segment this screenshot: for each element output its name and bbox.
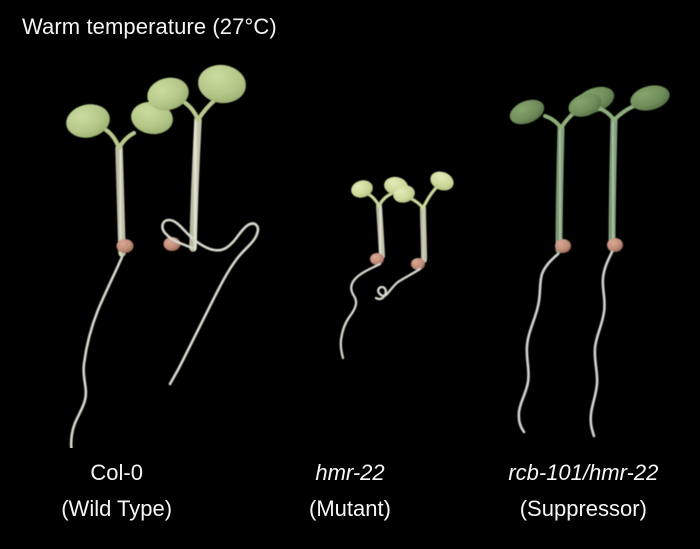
hypocotyl: [193, 120, 198, 248]
figure-panel: Warm temperature (27°C): [0, 0, 700, 549]
label-col-hmr22: hmr-22 (Mutant): [233, 452, 466, 549]
label-col-col0: Col-0 (Wild Type): [0, 452, 233, 549]
seed-coat: [370, 253, 384, 265]
figure-title: Warm temperature (27°C): [22, 14, 277, 40]
seedlings-svg: [0, 48, 700, 448]
description-label-hmr22: (Mutant): [309, 494, 391, 524]
seed-coat: [555, 239, 571, 253]
genotype-label-hmr22: hmr-22: [315, 458, 384, 488]
hypocotyl: [559, 128, 561, 250]
seedling-photograph: [0, 48, 700, 448]
seed-coat: [117, 239, 134, 253]
genotype-label-col0: Col-0: [90, 458, 143, 488]
hypocotyl: [379, 206, 382, 256]
seed-coat: [411, 258, 425, 270]
seed-coat: [607, 238, 623, 252]
panel-labels: Col-0 (Wild Type) hmr-22 (Mutant) rcb-10…: [0, 452, 700, 549]
hypocotyl: [612, 120, 614, 248]
hypocotyl: [119, 148, 122, 253]
label-col-suppressor: rcb-101/hmr-22 (Suppressor): [467, 452, 700, 549]
hypocotyl: [423, 208, 424, 260]
genotype-label-suppressor: rcb-101/hmr-22: [508, 458, 658, 488]
description-label-suppressor: (Suppressor): [520, 494, 647, 524]
description-label-col0: (Wild Type): [61, 494, 172, 524]
